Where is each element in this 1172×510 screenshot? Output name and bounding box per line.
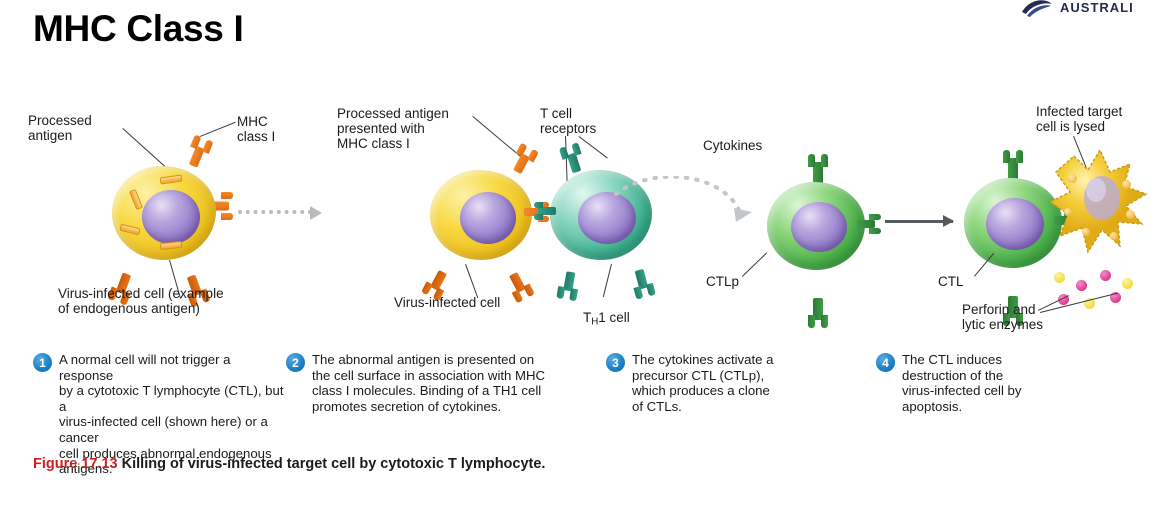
t-cell-receptor-icon bbox=[628, 267, 656, 300]
step-badge: 4 bbox=[876, 353, 895, 372]
callout-t-cell-receptors: T cell receptors bbox=[540, 106, 596, 136]
callout-th1-cell: TH1 cell bbox=[583, 295, 630, 330]
slide-root: AUSTRALI MHC Class I Processed antigen M… bbox=[0, 0, 1172, 510]
flow-arrow-dotted-1 bbox=[238, 210, 312, 214]
step-item: 3 The cytokines activate a precursor CTL… bbox=[606, 352, 876, 477]
cell-virus-infected-1 bbox=[108, 160, 220, 264]
perforin-granule-icon bbox=[1054, 272, 1065, 283]
lysed-target-cell bbox=[1048, 146, 1152, 256]
figure-number: Figure 17.13 bbox=[33, 456, 118, 472]
mhc-receptor-icon bbox=[503, 269, 536, 304]
callout-virus-infected-cell-example: Virus-infected cell (example of endogeno… bbox=[58, 286, 224, 316]
figure-caption-text: Killing of virus-infected target cell by… bbox=[122, 456, 546, 472]
callout-processed-antigen-presented: Processed antigen presented with MHC cla… bbox=[337, 106, 449, 151]
lysed-granule bbox=[1082, 228, 1090, 236]
mhc-receptor-icon bbox=[507, 142, 540, 177]
callout-ctlp: CTLp bbox=[706, 274, 739, 289]
callout-infected-target-lysed: Infected target cell is lysed bbox=[1036, 104, 1122, 134]
t-cell-receptor-icon bbox=[807, 154, 829, 184]
t-cell-receptor-icon bbox=[857, 214, 883, 234]
lysed-granule bbox=[1122, 180, 1131, 189]
page-title: MHC Class I bbox=[33, 8, 244, 50]
lysed-granule bbox=[1110, 232, 1118, 240]
flow-arrow-solid bbox=[885, 220, 953, 223]
t-cell-receptor-icon bbox=[807, 298, 829, 328]
cell-ctlp bbox=[765, 178, 869, 274]
cell-nucleus bbox=[791, 202, 847, 252]
swoosh-logo-icon bbox=[1020, 0, 1054, 18]
t-cell-receptor-icon bbox=[1002, 150, 1024, 180]
step-item: 4 The CTL induces destruction of the vir… bbox=[876, 352, 1126, 477]
cell-nucleus bbox=[986, 198, 1044, 250]
leader-line-th1 bbox=[603, 264, 612, 297]
callout-ctl: CTL bbox=[938, 274, 964, 289]
lysed-granule bbox=[1064, 208, 1072, 216]
step-badge: 1 bbox=[33, 353, 52, 372]
organization-logo: AUSTRALI bbox=[1020, 0, 1172, 20]
perforin-granule-icon bbox=[1122, 278, 1133, 289]
th1-prefix: T bbox=[583, 310, 591, 325]
cell-nucleus bbox=[460, 192, 516, 244]
leader-line-virus-infected-2 bbox=[465, 264, 478, 298]
step-badge: 2 bbox=[286, 353, 305, 372]
t-cell-receptor-binding-icon bbox=[534, 202, 554, 220]
step-badge: 3 bbox=[606, 353, 625, 372]
lysed-granule bbox=[1068, 174, 1077, 183]
cell-virus-infected-2 bbox=[428, 166, 536, 264]
t-cell-receptor-icon bbox=[555, 270, 582, 301]
lysed-granule bbox=[1126, 210, 1135, 219]
callout-perforin-lytic-enzymes: Perforin and lytic enzymes bbox=[962, 302, 1043, 332]
callout-cytokines: Cytokines bbox=[703, 138, 762, 153]
leader-line-ctlp bbox=[742, 252, 767, 276]
leader-line-mhc bbox=[200, 122, 236, 137]
figure-caption: Figure 17.13 Killing of virus-infected t… bbox=[33, 456, 545, 472]
callout-processed-antigen: Processed antigen bbox=[28, 113, 92, 143]
callout-mhc-class-i: MHC class I bbox=[237, 114, 275, 144]
lytic-enzyme-granule-icon bbox=[1076, 280, 1087, 291]
mhc-receptor-icon bbox=[183, 134, 215, 170]
step-text: The cytokines activate a precursor CTL (… bbox=[632, 352, 773, 477]
step-text: The CTL induces destruction of the virus… bbox=[902, 352, 1021, 477]
lytic-enzyme-granule-icon bbox=[1100, 270, 1111, 281]
th1-suffix: 1 cell bbox=[598, 310, 630, 325]
logo-text: AUSTRALI bbox=[1060, 0, 1134, 15]
t-cell-receptor-icon bbox=[558, 142, 588, 175]
callout-virus-infected-cell: Virus-infected cell bbox=[394, 295, 500, 310]
cell-nucleus bbox=[142, 190, 200, 244]
